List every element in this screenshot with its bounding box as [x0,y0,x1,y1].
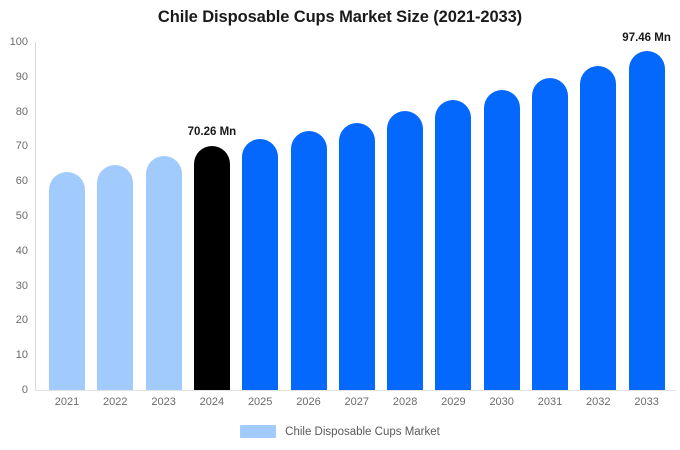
y-axis-tick-20: 20 [0,314,28,326]
bar-slot-2030 [484,42,520,390]
bar-2024[interactable] [194,146,230,391]
bar-slot-2025 [242,42,278,390]
bar-slot-2021 [49,42,85,390]
bar-chart: Chile Disposable Cups Market Size (2021-… [0,0,680,450]
legend-swatch-chile-disposable-cups-market [240,425,276,438]
bar-2031[interactable] [532,78,568,390]
plot-area [36,42,676,390]
y-axis-tick-50: 50 [0,210,28,222]
bar-slot-2023 [146,42,182,390]
bar-slot-2024 [194,42,230,390]
bar-2028[interactable] [387,111,423,390]
bar-slot-2027 [339,42,375,390]
bar-2026[interactable] [291,131,327,390]
bar-slot-2022 [97,42,133,390]
bar-2032[interactable] [580,66,616,390]
bar-slot-2029 [435,42,471,390]
bar-2021[interactable] [49,172,85,390]
y-axis-tick-30: 30 [0,280,28,292]
y-axis-tick-70: 70 [0,140,28,152]
bar-2022[interactable] [97,165,133,390]
bar-value-label-2033: 97.46 Mn [622,32,671,44]
bar-2029[interactable] [435,100,471,390]
bar-2025[interactable] [242,139,278,390]
y-axis-tick-60: 60 [0,175,28,187]
y-axis-tick-100: 100 [0,36,28,48]
bar-2023[interactable] [146,156,182,390]
bar-slot-2026 [291,42,327,390]
bar-slot-2032 [580,42,616,390]
bar-2033[interactable] [629,51,665,390]
bar-2027[interactable] [339,123,375,390]
y-axis-tick-10: 10 [0,349,28,361]
y-axis-tick-0: 0 [0,384,28,396]
bar-slot-2033 [629,42,665,390]
y-axis-tick-80: 80 [0,106,28,118]
bar-slot-2028 [387,42,423,390]
bar-value-label-2024: 70.26 Mn [188,126,237,138]
chart-legend: Chile Disposable Cups Market [0,425,680,438]
legend-label-chile-disposable-cups-market: Chile Disposable Cups Market [285,426,440,438]
y-axis-tick-40: 40 [0,245,28,257]
bar-2030[interactable] [484,90,520,390]
y-axis-tick-90: 90 [0,71,28,83]
bar-slot-2031 [532,42,568,390]
x-axis-tick-2033: 2033 [617,396,677,408]
